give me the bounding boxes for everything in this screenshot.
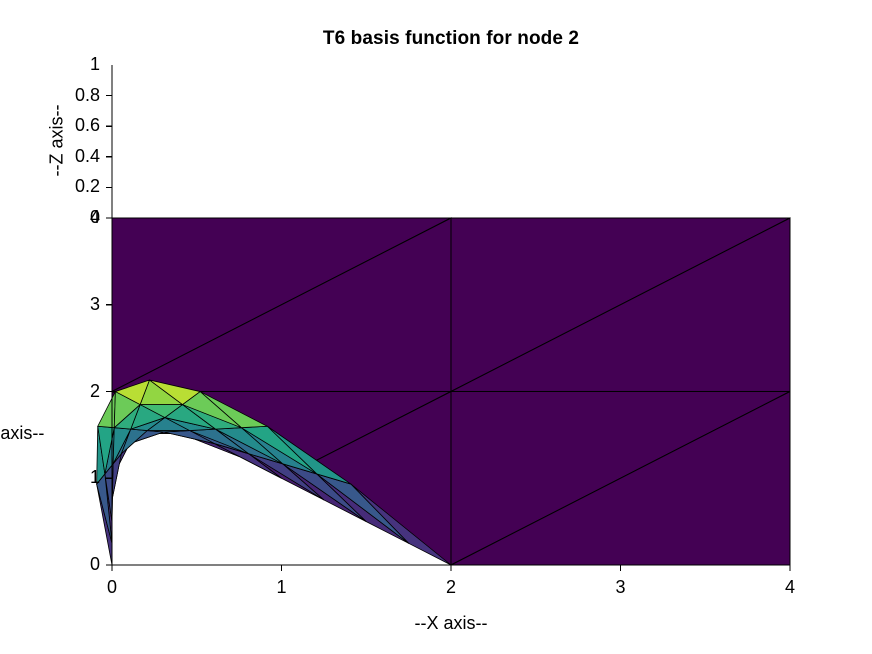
- x-axis-tick-label: 0: [82, 577, 142, 598]
- y-axis-tick-label: 3: [40, 294, 100, 315]
- y-axis-tick-label: 1: [40, 467, 100, 488]
- z-axis-label: --Z axis--: [47, 90, 68, 190]
- x-axis-tick-label: 4: [760, 577, 820, 598]
- matlab-figure-window: T6 basis function for node 2 01234012340…: [0, 0, 872, 654]
- y-axis-tick-label: 2: [40, 381, 100, 402]
- y-axis-label: --Y axis--: [0, 423, 58, 444]
- y-axis-tick-label: 0: [40, 554, 100, 575]
- x-axis-label: --X axis--: [301, 613, 601, 634]
- plot-canvas: [0, 0, 872, 654]
- z-axis-tick-label: 1: [40, 54, 100, 75]
- z-axis-tick-label: 0: [40, 207, 100, 228]
- surface-mesh-face: [98, 392, 116, 428]
- x-axis-tick-label: 2: [421, 577, 481, 598]
- x-axis-tick-label: 3: [591, 577, 651, 598]
- x-axis-tick-label: 1: [252, 577, 312, 598]
